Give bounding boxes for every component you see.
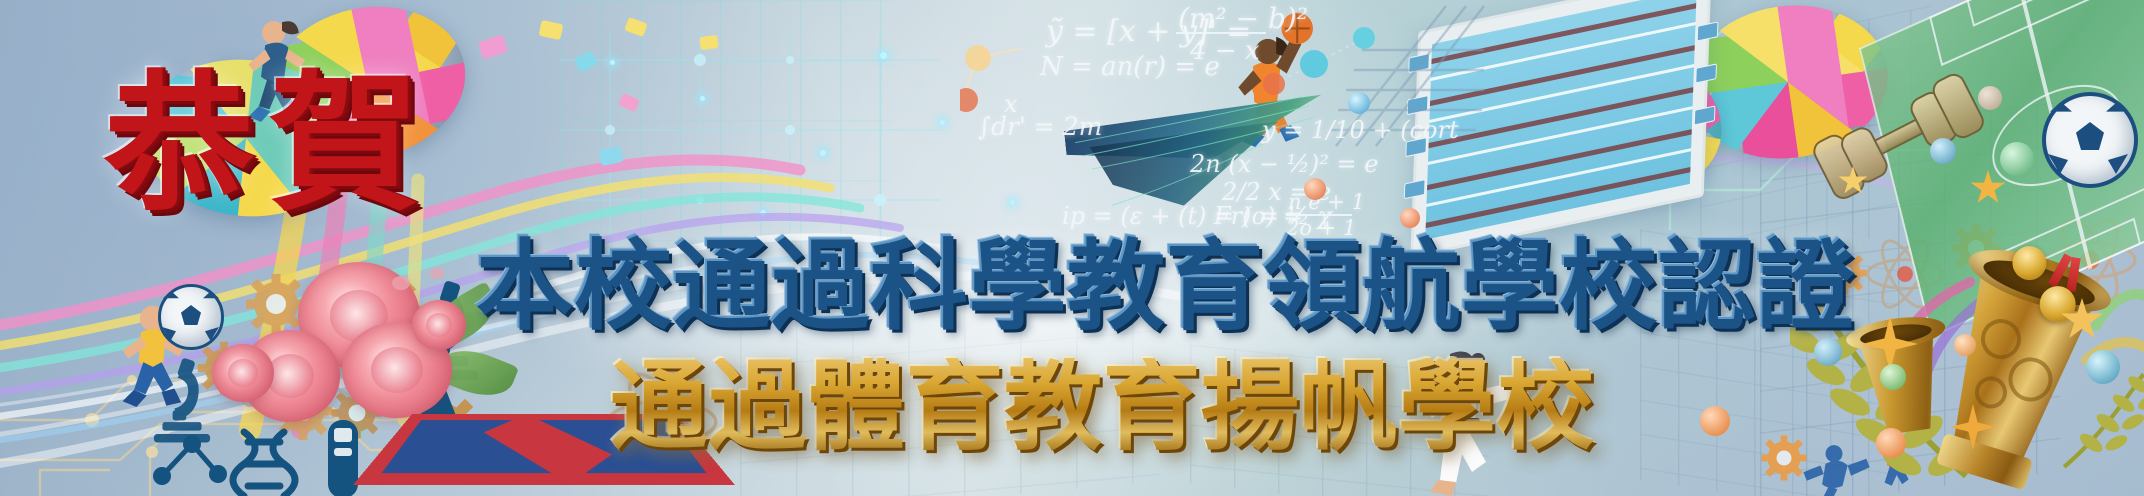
formula-text: x xyxy=(1004,90,1018,118)
gear-icon xyxy=(244,272,308,336)
running-athlete-icon xyxy=(123,306,185,407)
formula-text: ∫dr' = 2m xyxy=(978,112,1102,141)
confetti-icon xyxy=(624,17,648,37)
bleachers-icon xyxy=(1326,0,1486,150)
bubble-icon xyxy=(2086,350,2120,384)
formula-text: N = an(r) = e xyxy=(1040,52,1220,82)
congratulation-banner: ỹ = [x + y]' = (m² − b)² 4 − x N = an(r)… xyxy=(0,0,2144,496)
soccer-ball-icon xyxy=(158,284,224,350)
bubble-icon xyxy=(1930,138,1956,164)
bubble-icon xyxy=(1954,334,1976,356)
sparkle-dot-icon xyxy=(880,52,887,59)
dna-helix-icon xyxy=(228,428,302,496)
formula-text: ỹ = [x + y]' = xyxy=(1046,14,1252,49)
formula-text: 4 − x xyxy=(1190,36,1260,66)
soccer-ball-icon xyxy=(2042,92,2138,188)
sparkle-dot-icon xyxy=(820,150,826,156)
sparkle-dot-icon xyxy=(940,120,945,125)
gear-icon xyxy=(196,340,252,396)
confetti-icon xyxy=(699,35,719,50)
formula-text xyxy=(1176,32,1266,34)
headline-line-1: 本校通過科學教育領航學校認證 xyxy=(476,238,1855,336)
formula-text: (m² − b)² xyxy=(1178,2,1308,35)
bubble-icon xyxy=(1876,428,1906,458)
sparkle-dot-icon xyxy=(610,60,615,65)
headline-line-2: 通過體育教育揚帆學校 xyxy=(610,358,1595,456)
bubble-icon xyxy=(2000,142,2034,176)
microscope-icon xyxy=(142,352,222,448)
rose-icon xyxy=(212,344,274,402)
confetti-icon xyxy=(599,146,624,166)
confetti-icon xyxy=(618,93,640,113)
basketball-player-icon xyxy=(1238,13,1313,147)
sparkle-dot-icon xyxy=(700,96,705,101)
congratulations-text: 恭賀 xyxy=(104,70,434,220)
confetti-icon xyxy=(539,20,564,40)
molecule-icon xyxy=(960,40,1080,150)
bubble-icon xyxy=(1978,86,2002,110)
bubble-icon xyxy=(1880,364,1906,390)
confetti-icon xyxy=(478,34,508,59)
formula-text: 2n (x − ½)² = e xyxy=(1190,150,1378,178)
confetti-icon xyxy=(574,51,598,73)
molecule-icon xyxy=(146,430,232,494)
